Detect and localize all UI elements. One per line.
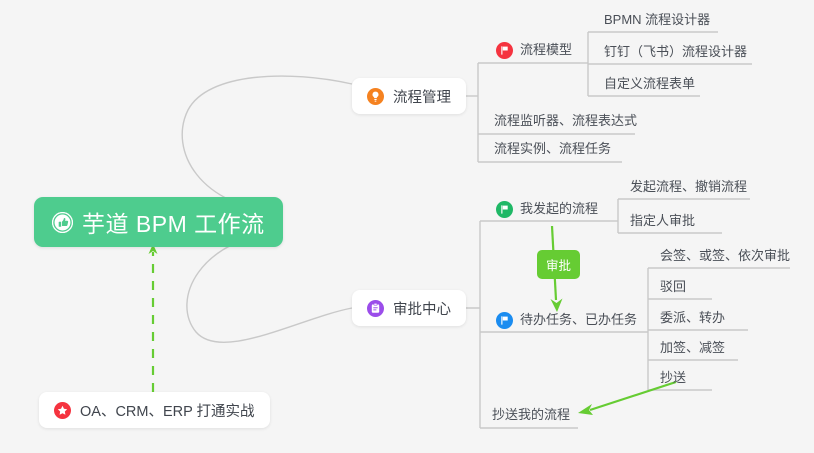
child-node-listener-expression[interactable]: 流程监听器、流程表达式 [490, 108, 641, 134]
flag-icon [496, 42, 513, 59]
child-node-process-model[interactable]: 流程模型 [492, 37, 576, 63]
child-label-instance-task: 流程实例、流程任务 [494, 136, 611, 162]
child-label-listener-expression: 流程监听器、流程表达式 [494, 108, 637, 134]
link-root-to-approval-center [187, 232, 352, 342]
leaf-label-assignee-approval: 指定人审批 [630, 208, 695, 234]
leaf-node-assignee-approval[interactable]: 指定人审批 [626, 208, 699, 234]
link-root-to-process-management [182, 76, 352, 212]
leaf-node-reject[interactable]: 驳回 [656, 274, 690, 300]
leaf-label-add-remove-sign: 加签、减签 [660, 335, 725, 361]
child-node-my-started-processes[interactable]: 我发起的流程 [492, 196, 602, 222]
leaf-node-cc[interactable]: 抄送 [656, 365, 690, 391]
leaf-node-countersign[interactable]: 会签、或签、依次审批 [656, 243, 794, 269]
footnote-node[interactable]: OA、CRM、ERP 打通实战 [39, 392, 270, 428]
clipboard-icon [367, 300, 384, 317]
leaf-label-countersign: 会签、或签、依次审批 [660, 243, 790, 269]
mindmap-canvas: 芋道 BPM 工作流 OA、CRM、ERP 打通实战 流程管理 [0, 0, 814, 453]
footnote-label: OA、CRM、ERP 打通实战 [80, 400, 255, 421]
branch-label-process-management: 流程管理 [393, 86, 451, 107]
leaf-label-reject: 驳回 [660, 274, 686, 300]
arrowhead-cc-reference [578, 404, 593, 415]
leaf-node-bpmn-designer[interactable]: BPMN 流程设计器 [600, 7, 714, 33]
leaf-label-start-cancel-process: 发起流程、撤销流程 [630, 174, 747, 200]
flag-icon [496, 201, 513, 218]
leaf-label-delegate-transfer: 委派、转办 [660, 305, 725, 331]
child-label-my-started-processes: 我发起的流程 [520, 196, 598, 222]
child-label-cc-to-me: 抄送我的流程 [492, 402, 570, 428]
child-node-instance-task[interactable]: 流程实例、流程任务 [490, 136, 615, 162]
leaf-node-start-cancel-process[interactable]: 发起流程、撤销流程 [626, 174, 751, 200]
thumbs-up-icon [52, 212, 73, 233]
leaf-node-custom-form[interactable]: 自定义流程表单 [600, 71, 699, 97]
leaf-label-bpmn-designer: BPMN 流程设计器 [604, 7, 710, 33]
leaf-label-custom-form: 自定义流程表单 [604, 71, 695, 97]
root-label: 芋道 BPM 工作流 [82, 205, 265, 239]
leaf-label-dingtalk-designer: 钉钉（飞书）流程设计器 [604, 39, 747, 65]
leaf-node-dingtalk-designer[interactable]: 钉钉（飞书）流程设计器 [600, 39, 751, 65]
child-node-todo-done-tasks[interactable]: 待办任务、已办任务 [492, 307, 641, 333]
leaf-label-cc: 抄送 [660, 365, 686, 391]
lightbulb-icon [367, 88, 384, 105]
branch-node-process-management[interactable]: 流程管理 [352, 78, 466, 114]
star-icon [54, 402, 71, 419]
child-label-todo-done-tasks: 待办任务、已办任务 [520, 307, 637, 333]
child-node-cc-to-me[interactable]: 抄送我的流程 [488, 402, 574, 428]
branch-node-approval-center[interactable]: 审批中心 [352, 290, 466, 326]
flag-icon [496, 312, 513, 329]
approval-annotation-box[interactable]: 审批 [537, 250, 580, 279]
leaf-node-delegate-transfer[interactable]: 委派、转办 [656, 305, 729, 331]
approval-annotation-label: 审批 [546, 255, 571, 274]
child-label-process-model: 流程模型 [520, 37, 572, 63]
branch-label-approval-center: 审批中心 [393, 298, 451, 319]
leaf-node-add-remove-sign[interactable]: 加签、减签 [656, 335, 729, 361]
root-node[interactable]: 芋道 BPM 工作流 [34, 197, 283, 247]
